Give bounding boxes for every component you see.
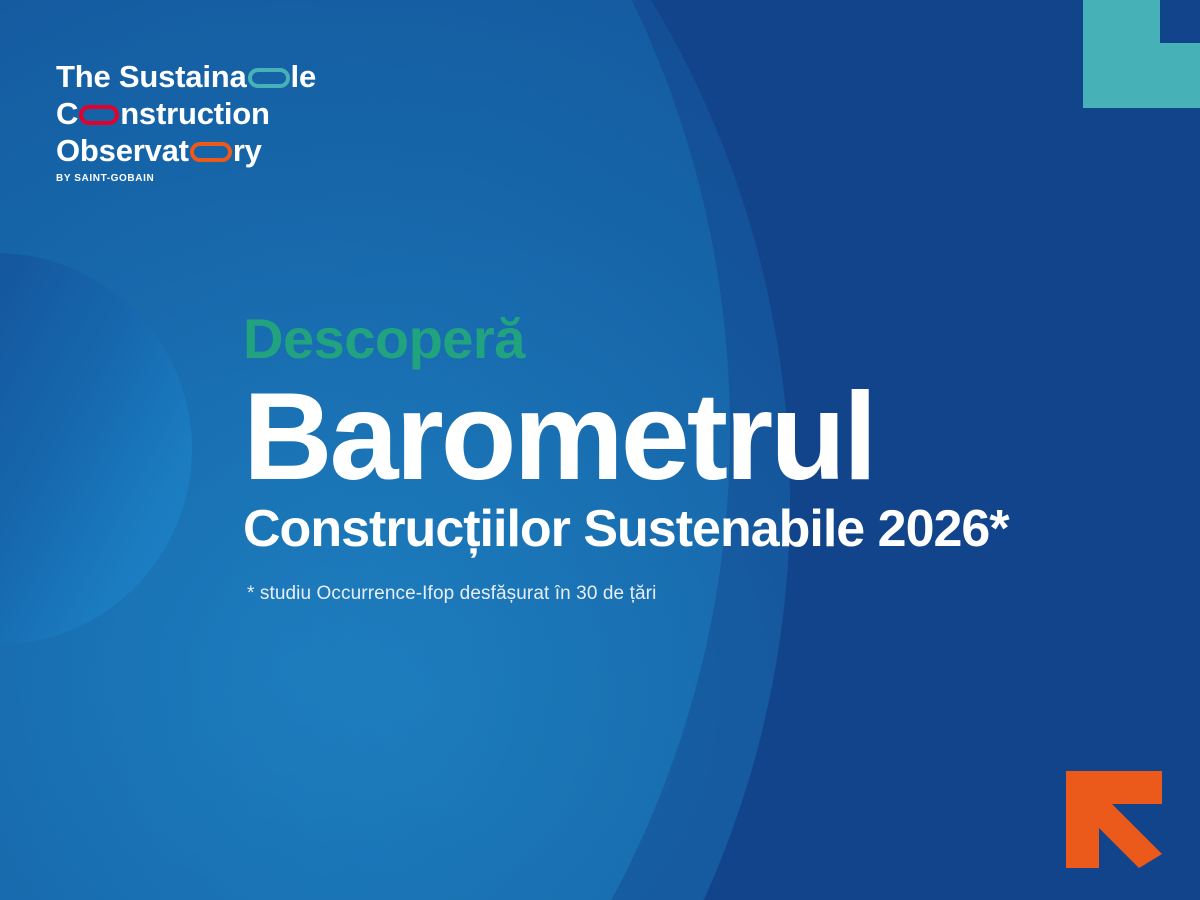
- logo-pill-teal-icon: [248, 68, 290, 88]
- headline-subtitle: Construcțiilor Sustenabile 2026*: [243, 500, 1143, 558]
- logo-line-observatory: Observatry: [56, 132, 356, 169]
- headline-kicker: Descoperă: [243, 308, 1143, 370]
- headline-footnote: * studiu Occurrence-Ifop desfășurat în 3…: [247, 582, 1143, 606]
- logo-text-c: C: [56, 96, 78, 131]
- teal-bracket-icon: [1083, 0, 1200, 108]
- logo-line-construction: Cnstruction: [56, 95, 356, 132]
- logo-byline: BY SAINT-GOBAIN: [56, 173, 356, 184]
- headline-block: Descoperă Barometrul Construcțiilor Sust…: [243, 308, 1143, 606]
- promo-banner: The Sustainale Cnstruction Observatry BY…: [0, 0, 1200, 900]
- brand-logo: The Sustainale Cnstruction Observatry BY…: [56, 58, 356, 184]
- logo-pill-orange-icon: [190, 142, 232, 162]
- teal-bracket-horizontal-bar: [1083, 43, 1200, 108]
- logo-text-le: le: [291, 59, 316, 94]
- logo-pill-red-icon: [79, 105, 119, 125]
- page-title: Barometrul: [243, 376, 1143, 498]
- logo-text-observat: Observat: [56, 133, 189, 168]
- logo-text-nstruction: nstruction: [120, 96, 270, 131]
- orange-arrow-icon: [1066, 771, 1162, 868]
- logo-text-ry: ry: [233, 133, 262, 168]
- logo-text-the-sustaina: The Sustaina: [56, 59, 247, 94]
- logo-line-sustainable: The Sustainale: [56, 58, 356, 95]
